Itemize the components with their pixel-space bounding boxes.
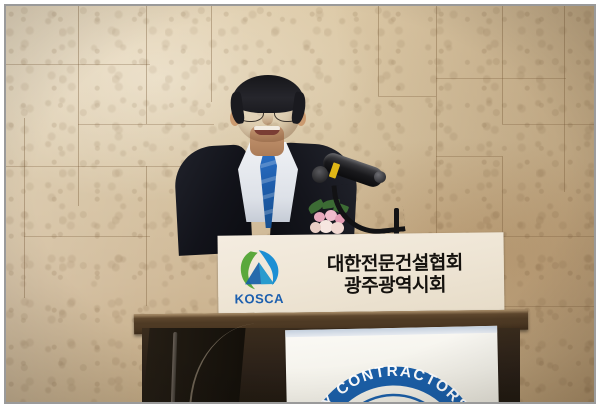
smiling-mouth bbox=[254, 126, 280, 135]
photograph: KOSCA 대한전문건설협회 광주광역시회 bbox=[6, 6, 594, 402]
mic-end-cap bbox=[374, 171, 386, 183]
lectern: KOSCA 대한전문건설협회 광주광역시회 bbox=[134, 228, 528, 402]
specialty-contractors-association-seal: ECIALTY CONTRACTORS ASSO bbox=[295, 338, 490, 402]
kosca-logo-mark bbox=[237, 247, 282, 290]
sign-line-1: 대한전문건설협회 bbox=[327, 253, 463, 276]
photo-border: KOSCA 대한전문건설협회 광주광역시회 bbox=[4, 4, 596, 404]
svg-text:ECIALTY CONTRACTORS ASSO: ECIALTY CONTRACTORS ASSO bbox=[295, 338, 487, 402]
photo-frame: KOSCA 대한전문건설협회 광주광역시회 bbox=[0, 0, 600, 408]
kosca-wordmark: KOSCA bbox=[234, 290, 284, 306]
organization-name-plate: KOSCA 대한전문건설협회 광주광역시회 bbox=[218, 232, 505, 318]
kosca-logo: KOSCA bbox=[226, 247, 293, 306]
sign-line-2: 광주광역시회 bbox=[344, 274, 446, 297]
sign-text-block: 대한전문건설협회 광주광역시회 bbox=[292, 252, 505, 297]
seal-arc-text: ECIALTY CONTRACTORS ASSO bbox=[295, 338, 487, 402]
lectern-front-seal-panel: ECIALTY CONTRACTORS ASSO bbox=[285, 326, 499, 402]
